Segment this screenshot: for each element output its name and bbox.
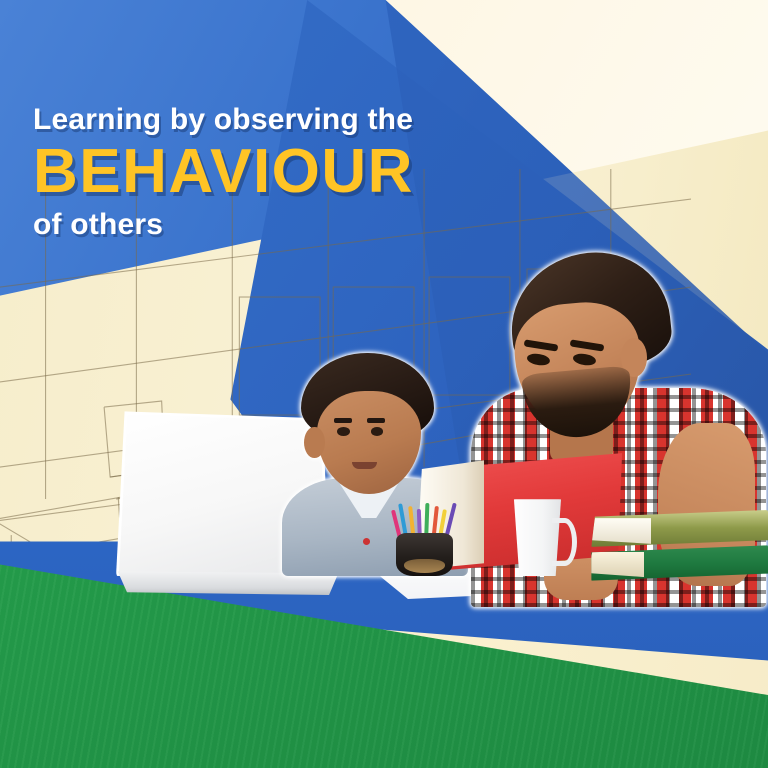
headline-block: Learning by observing the BEHAVIOUR of o… [33, 104, 540, 241]
book-olive-pages [591, 518, 651, 544]
boy-eye-left [337, 427, 350, 436]
boy-eye-right [371, 427, 384, 436]
headline-line-2-behaviour: BEHAVIOUR [33, 139, 540, 205]
boy-mouth [352, 462, 377, 469]
book-olive [591, 510, 768, 547]
pencil-cup-pot [396, 533, 454, 576]
boy-ear [304, 427, 324, 458]
boy-eyebrow-left [334, 418, 351, 423]
book-green-pages [588, 552, 645, 577]
book-green [591, 545, 768, 580]
mug-handle [552, 518, 577, 566]
boy-eyebrow-right [367, 418, 384, 423]
mug-photo [511, 499, 576, 576]
book-stack-photo [591, 507, 768, 584]
promo-banner: Learning by observing the BEHAVIOUR of o… [0, 0, 768, 768]
headline-line-3: of others [33, 209, 540, 241]
boy-shirt-button [363, 538, 370, 545]
headline-line-1: Learning by observing the [33, 104, 540, 136]
pencil-cup-photo [396, 507, 454, 576]
